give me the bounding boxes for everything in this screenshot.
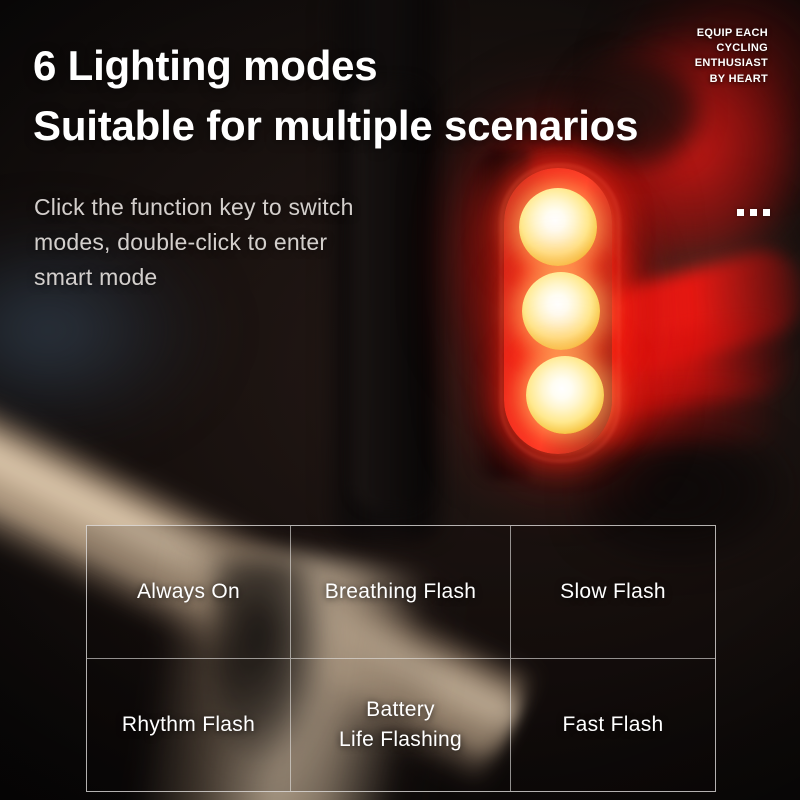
mode-cell-battery-life-flashing: Battery Life Flashing [291,659,511,792]
dot-3 [763,209,770,216]
dot-1 [737,209,744,216]
mode-cell-rhythm-flash: Rhythm Flash [87,659,291,792]
product-feature-banner: 6 Lighting modes Suitable for multiple s… [0,0,800,800]
mode-cell-always-on: Always On [87,526,291,659]
lighting-modes-table: Always On Breathing Flash Slow Flash Rhy… [86,525,716,792]
page-title: 6 Lighting modes Suitable for multiple s… [33,36,793,155]
mode-cell-fast-flash: Fast Flash [511,659,715,792]
three-dots-icon [737,209,770,216]
page-subtitle: Click the function key to switch modes, … [34,190,484,295]
brand-tagline: EQUIP EACH CYCLING ENTHUSIAST BY HEART [695,26,768,87]
mode-cell-breathing-flash: Breathing Flash [291,526,511,659]
mode-cell-slow-flash: Slow Flash [511,526,715,659]
dot-2 [750,209,757,216]
